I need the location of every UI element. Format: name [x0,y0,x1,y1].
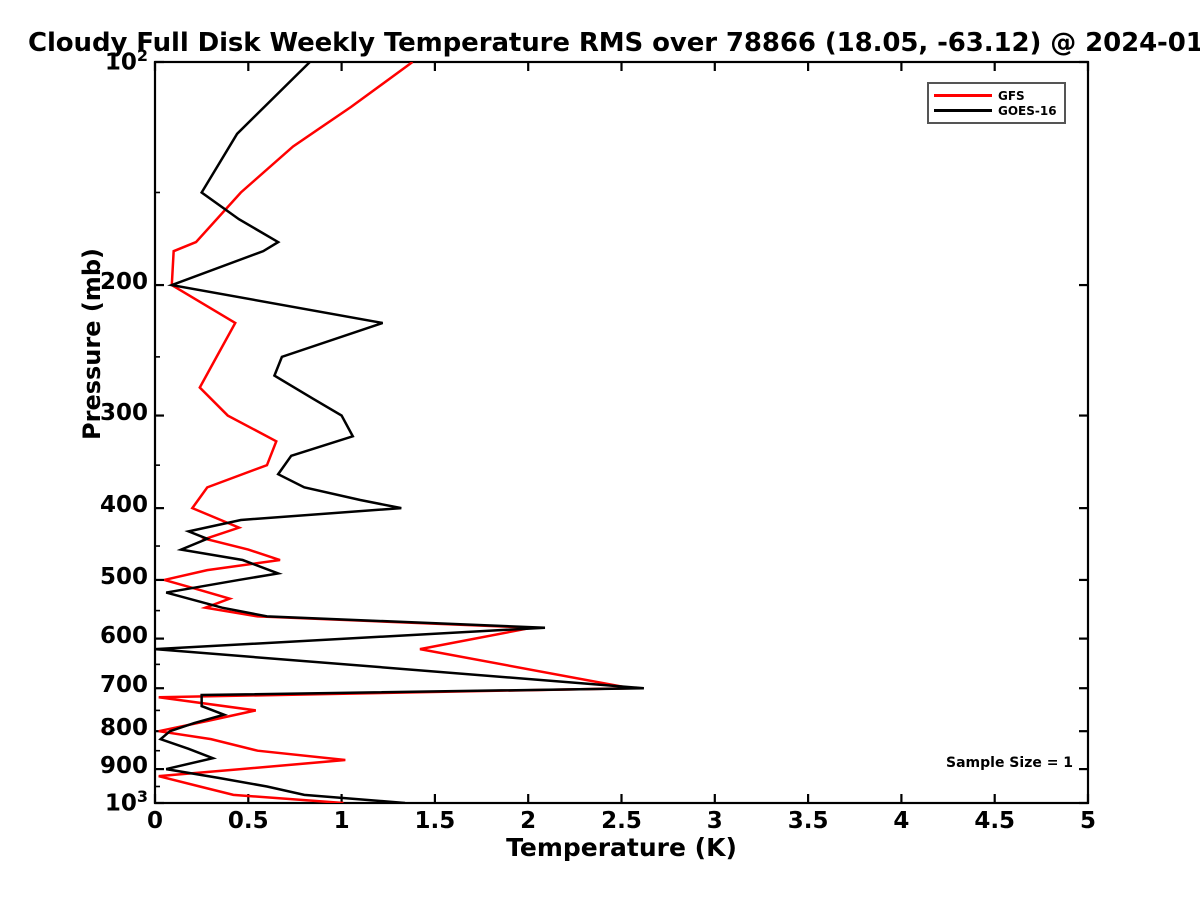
x-tick-label-2: 2 [488,808,568,834]
x-tick-label-4-5: 4.5 [955,808,1035,834]
x-tick-label-1: 1 [302,808,382,834]
legend-label-gfs: GFS [998,89,1025,103]
legend-swatch-goes-16 [934,109,992,112]
sample-size-annotation: Sample Size = 1 [946,755,1073,771]
x-tick-label-1-5: 1.5 [395,808,475,834]
axis-frame [155,62,1088,803]
x-tick-label-2-5: 2.5 [582,808,662,834]
x-tick-label-4: 4 [861,808,941,834]
y-tick-label-600: 600 [100,623,148,649]
x-tick-label-0-5: 0.5 [208,808,288,834]
y-tick-label-500: 500 [100,564,148,590]
x-tick-label-5: 5 [1048,808,1128,834]
legend-swatch-gfs [934,94,992,97]
y-tick-label-900: 900 [100,753,148,779]
x-tick-label-3: 3 [675,808,755,834]
legend-item-gfs: GFS [934,88,1057,103]
y-tick-label-300: 300 [100,400,148,426]
y-tick-label-800: 800 [100,715,148,741]
x-tick-label-0: 0 [115,808,195,834]
y-tick-label-700: 700 [100,672,148,698]
x-tick-label-3-5: 3.5 [768,808,848,834]
y-tick-label-100: 102 [105,46,148,76]
y-tick-label-200: 200 [100,269,148,295]
legend-label-goes-16: GOES-16 [998,104,1057,118]
series-line-goes-16 [155,62,644,803]
legend-item-goes-16: GOES-16 [934,103,1057,118]
y-tick-label-400: 400 [100,492,148,518]
chart-legend: GFS GOES-16 [927,82,1066,124]
figure-canvas: Cloudy Full Disk Weekly Temperature RMS … [0,0,1200,900]
